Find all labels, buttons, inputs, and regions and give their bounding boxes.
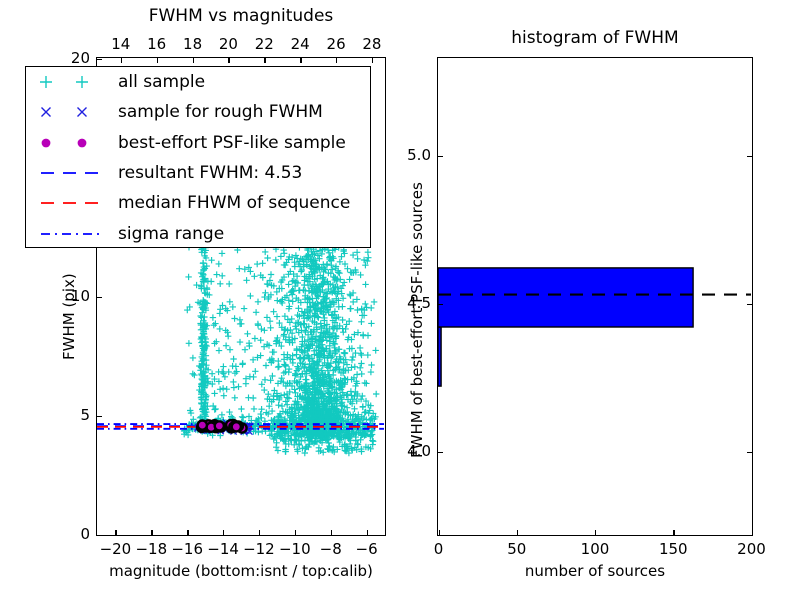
y-ticklabel: 5	[54, 406, 90, 424]
left-xaxis-label: magnitude (bottom:isnt / top:calib)	[96, 562, 386, 580]
x-tick-bottom	[752, 530, 753, 536]
x-ticklabel-top: 24	[284, 35, 316, 53]
y-tick-right	[747, 304, 753, 305]
x-tick-top	[264, 57, 265, 63]
x-tick-bottom	[187, 530, 188, 536]
legend-item-all-sample: all sample	[26, 67, 370, 97]
x-ticklabel: −6	[351, 540, 383, 558]
figure-canvas: FWHM vs magnitudes 1416182022242628 0510…	[0, 0, 800, 600]
x-ticklabel-top: 26	[320, 35, 352, 53]
x-tick-bottom	[367, 530, 368, 536]
right-xaxis-label: number of sources	[437, 562, 753, 580]
x-ticklabel-top: 16	[141, 35, 173, 53]
x-ticklabel-top: 22	[248, 35, 280, 53]
y-ticklabel: 20	[54, 49, 90, 67]
circle-marker	[75, 136, 89, 150]
legend-item-psf-like: best-effort PSF-like sample	[26, 128, 370, 158]
x-ticklabel: −10	[279, 540, 311, 558]
legend-item-rough-fwhm: sample for rough FWHM	[26, 97, 370, 127]
x-tick-top	[121, 57, 122, 63]
histogram-plot-area	[438, 58, 751, 534]
x-ticklabel: −12	[243, 540, 275, 558]
y-tick-left	[437, 452, 443, 453]
x-ticklabel: −18	[135, 540, 167, 558]
x-ticklabel: 50	[497, 540, 537, 558]
psf-like-points	[197, 420, 246, 433]
x-tick-bottom	[439, 530, 440, 536]
x-tick-bottom	[151, 530, 152, 536]
y-tick-left	[96, 59, 102, 60]
x-tick-bottom	[295, 530, 296, 536]
right-yaxis-label: FWHM of best-effort PSF-like sources	[408, 182, 426, 458]
x-ticklabel-top: 14	[105, 35, 137, 53]
right-plot-title: histogram of FWHM	[437, 28, 753, 48]
legend-item-sigma-range: sigma range	[26, 218, 370, 248]
left-yaxis-label: FWHM (pix)	[60, 273, 78, 360]
x-ticklabel: 100	[575, 540, 615, 558]
x-ticklabel: −8	[315, 540, 347, 558]
cross-marker	[75, 105, 89, 119]
x-tick-bottom	[259, 530, 260, 536]
histogram-bars	[438, 268, 693, 386]
y-tick-left	[96, 535, 102, 536]
x-ticklabel: −20	[99, 540, 131, 558]
x-tick-top	[228, 57, 229, 63]
y-tick-left	[96, 297, 102, 298]
dashed-line-swatch	[39, 167, 101, 179]
x-ticklabel: 0	[419, 540, 459, 558]
y-ticklabel: 0	[54, 525, 90, 543]
legend-label: resultant FWHM: 4.53	[118, 163, 302, 183]
circle-marker	[39, 136, 53, 150]
x-tick-bottom	[595, 530, 596, 536]
dashdot-line-swatch	[39, 228, 101, 240]
plot-legend: all sample sample for rough FWHM best-ef…	[25, 66, 371, 248]
x-tick-bottom	[331, 530, 332, 536]
plus-marker	[75, 75, 89, 89]
legend-label: sample for rough FWHM	[118, 102, 323, 122]
y-ticklabel: 5.0	[393, 146, 431, 164]
x-tick-top	[193, 57, 194, 63]
x-ticklabel: 150	[653, 540, 693, 558]
x-ticklabel-top: 28	[356, 35, 388, 53]
x-tick-top	[336, 57, 337, 63]
x-ticklabel: −16	[171, 540, 203, 558]
histogram-of-fwhm-axes	[437, 57, 753, 536]
y-tick-left	[437, 304, 443, 305]
legend-item-resultant-fwhm: resultant FWHM: 4.53	[26, 158, 370, 188]
histogram-bar	[438, 327, 441, 386]
x-tick-bottom	[115, 530, 116, 536]
cross-marker	[39, 105, 53, 119]
y-tick-right	[747, 156, 753, 157]
legend-label: best-effort PSF-like sample	[118, 133, 346, 153]
legend-label: sigma range	[118, 224, 224, 244]
x-ticklabel-top: 18	[177, 35, 209, 53]
x-tick-bottom	[673, 530, 674, 536]
plus-marker	[39, 75, 53, 89]
y-tick-left	[96, 416, 102, 417]
x-tick-bottom	[223, 530, 224, 536]
x-tick-top	[372, 57, 373, 63]
x-tick-bottom	[517, 530, 518, 536]
legend-label: all sample	[118, 72, 205, 92]
dashed-line-swatch	[39, 197, 101, 209]
histogram-bar	[438, 268, 693, 327]
y-tick-right	[747, 452, 753, 453]
y-tick-left	[437, 156, 443, 157]
x-ticklabel: 200	[732, 540, 772, 558]
x-tick-top	[157, 57, 158, 63]
left-plot-title: FWHM vs magnitudes	[96, 6, 386, 26]
legend-item-median-fwhm: median FHWM of sequence	[26, 188, 370, 218]
x-tick-top	[300, 57, 301, 63]
x-ticklabel-top: 20	[212, 35, 244, 53]
x-ticklabel: −14	[207, 540, 239, 558]
legend-label: median FHWM of sequence	[118, 193, 350, 213]
